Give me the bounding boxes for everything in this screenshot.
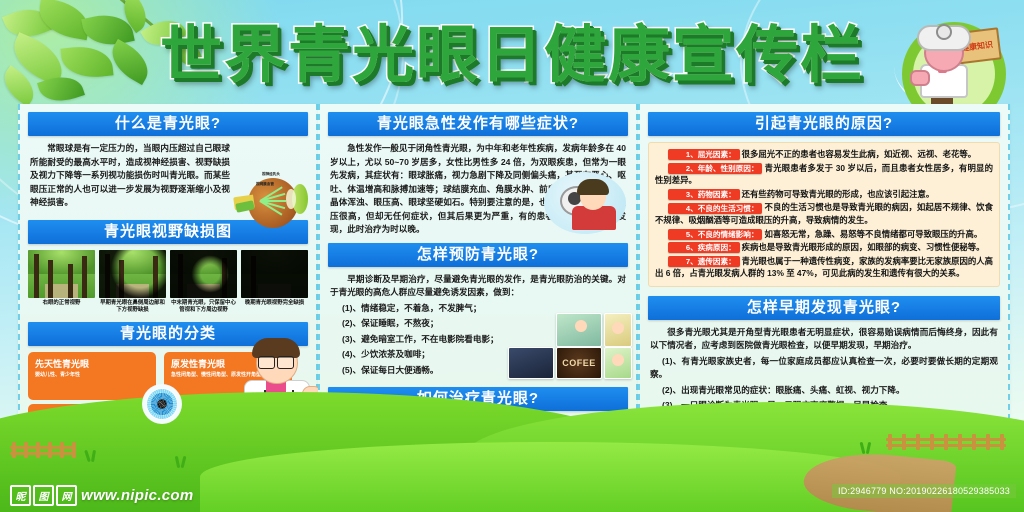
cause-item: 5、不良的情绪影响：如喜怒无常，急躁、易怒等不良情绪都可导致眼压的升高。 [655, 228, 993, 241]
cause-text: 如喜怒无常，急躁、易怒等不良情绪都可导致眼压的升高。 [764, 229, 982, 239]
lifestyle-thumbnails: COFEE [480, 313, 630, 379]
hill-center [200, 442, 900, 512]
class-subtitle: 婴幼儿性、青少年性 [35, 372, 149, 379]
thumb-toilet [604, 347, 632, 379]
cause-item: 3、药物因素：还有些药物可导致青光眼的形成，也应该引起注意。 [655, 188, 993, 201]
title-area: 世界青光眼日健康宣传栏 [0, 16, 1024, 98]
thumb-sleep [604, 313, 632, 347]
doctor-mascot: 健康知识 [884, 8, 1002, 112]
cause-tag: 1、屈光因素： [668, 149, 739, 160]
watermark-logo-char: 图 [33, 485, 54, 506]
cause-text: 疾病也是导致青光眼形成的原因，如眼部的病变、习惯性便秘等。 [742, 242, 985, 252]
fence-right [886, 434, 1006, 450]
class-card-congenital: 先天性青光眼 婴幼儿性、青少年性 [28, 352, 156, 400]
watermark: 昵 图 网 www.nipic.com [10, 485, 194, 506]
head-mirror-icon [936, 24, 952, 40]
cause-item: 2、年龄、性别原因：青光眼患者多发于 30 岁以后，而且患者女性居多，有明显的性… [655, 162, 993, 187]
cause-tag: 6、疾病原因： [668, 242, 739, 253]
eye-iris-icon [142, 384, 182, 424]
cause-item: 7、遗传因素：青光眼也属于一种遗传性病变，家族的发病率要比无家族原因的人高出 6… [655, 255, 993, 280]
field-image-normal [28, 250, 95, 298]
watermark-url: www.nipic.com [81, 487, 194, 504]
cause-text: 很多屈光不正的患者也容易发生此病，如近视、远视、老花等。 [742, 149, 977, 159]
lens-shape [286, 189, 296, 209]
field-item: 中末期青光眼，只保留中心管视和下方周边视野 [170, 250, 237, 314]
field-caption: 中末期青光眼，只保留中心管视和下方周边视野 [170, 300, 237, 314]
visual-field-gallery: 右眼的正常视野 早期青光眼在鼻侧周边部和下方视野缺损 [28, 250, 308, 314]
patient-illustration [544, 172, 630, 238]
cause-tag: 3、药物因素： [668, 189, 739, 200]
section-heading-causes: 引起青光眼的原因? [648, 112, 1000, 136]
fence-left [10, 442, 76, 458]
cause-item: 4、不良的生活习惯：不良的生活习惯也是导致青光眼的病因，如起居不规律、饮食不规律… [655, 201, 993, 226]
anatomy-label-2: 视网膜血管 [256, 182, 274, 187]
poster-canvas: 世界青光眼日健康宣传栏 健康知识 什么是青光眼? 常眼球是有一定压力的，当眼内压… [0, 0, 1024, 512]
thumb-coffee-label: COFEE [562, 358, 596, 368]
page-title: 世界青光眼日健康宣传栏 [160, 16, 864, 94]
field-item: 晚期青光眼视野完全缺损 [241, 250, 308, 314]
cause-tag: 5、不良的情绪影响： [668, 229, 762, 240]
causes-panel: 1、屈光因素：很多屈光不正的患者也容易发生此病，如近视、远视、老花等。 2、年龄… [648, 142, 1000, 287]
glasses-icon [258, 356, 294, 367]
mascot-arm [910, 70, 930, 86]
detection-item: (2)、出现青光眼常见的症状：眼胀痛、头痛、虹视、视力下降。 [650, 384, 998, 398]
field-item: 右眼的正常视野 [28, 250, 95, 314]
thumb-coffee: COFEE [556, 347, 602, 379]
paragraph: 早期诊断及早期治疗，尽量避免青光眼的发作，是青光眼防治的关键。对于青光眼的高危人… [330, 273, 626, 300]
field-caption: 晚期青光眼视野完全缺损 [241, 300, 308, 307]
cause-text: 还有些药物可导致青光眼的形成，也应该引起注意。 [742, 189, 935, 199]
field-item: 早期青光眼在鼻侧周边部和下方视野缺损 [99, 250, 166, 314]
paragraph: 很多青光眼尤其是开角型青光眼患者无明显症状，很容易贻误病情而后悔终身，因此有以下… [650, 326, 998, 353]
image-id-badge: ID:2946779 NO:20190226180529385033 [832, 484, 1016, 498]
section-heading-acute-symptoms: 青光眼急性发作有哪些症状? [328, 112, 628, 136]
watermark-logo: 昵 图 网 [10, 485, 77, 506]
doctor-hair [252, 338, 300, 358]
field-image-early [99, 250, 166, 298]
detection-item: (1)、有青光眼家族史者，每一位家庭成员都应认真检查一次，必要时要做长期的定期观… [650, 355, 998, 382]
cause-tag: 4、不良的生活习惯： [668, 203, 762, 214]
anatomy-label-1: 视神经乳头 [262, 172, 280, 177]
thumb-no-anger [556, 313, 602, 347]
field-caption: 早期青光眼在鼻侧周边部和下方视野缺损 [99, 300, 166, 314]
cause-item: 6、疾病原因：疾病也是导致青光眼形成的原因，如眼部的病变、习惯性便秘等。 [655, 241, 993, 254]
watermark-logo-char: 昵 [10, 485, 31, 506]
cause-item: 1、屈光因素：很多屈光不正的患者也容易发生此病，如近视、远视、老花等。 [655, 148, 993, 161]
eye-anatomy-diagram: 视神经乳头 视网膜血管 [234, 172, 308, 234]
cause-tag: 2、年龄、性别原因： [668, 163, 762, 174]
field-image-late [241, 250, 308, 298]
cause-tag: 7、遗传因素： [668, 256, 739, 267]
watermark-logo-char: 网 [56, 485, 77, 506]
section-heading-early-detection: 怎样早期发现青光眼? [648, 296, 1000, 320]
patient-hair [577, 179, 609, 195]
field-image-mid [170, 250, 237, 298]
field-caption: 右眼的正常视野 [28, 300, 95, 307]
section-heading-what-is: 什么是青光眼? [28, 112, 308, 136]
class-title: 先天性青光眼 [35, 357, 149, 370]
section-heading-prevention: 怎样预防青光眼? [328, 243, 628, 267]
thumb-cinema [508, 347, 554, 379]
